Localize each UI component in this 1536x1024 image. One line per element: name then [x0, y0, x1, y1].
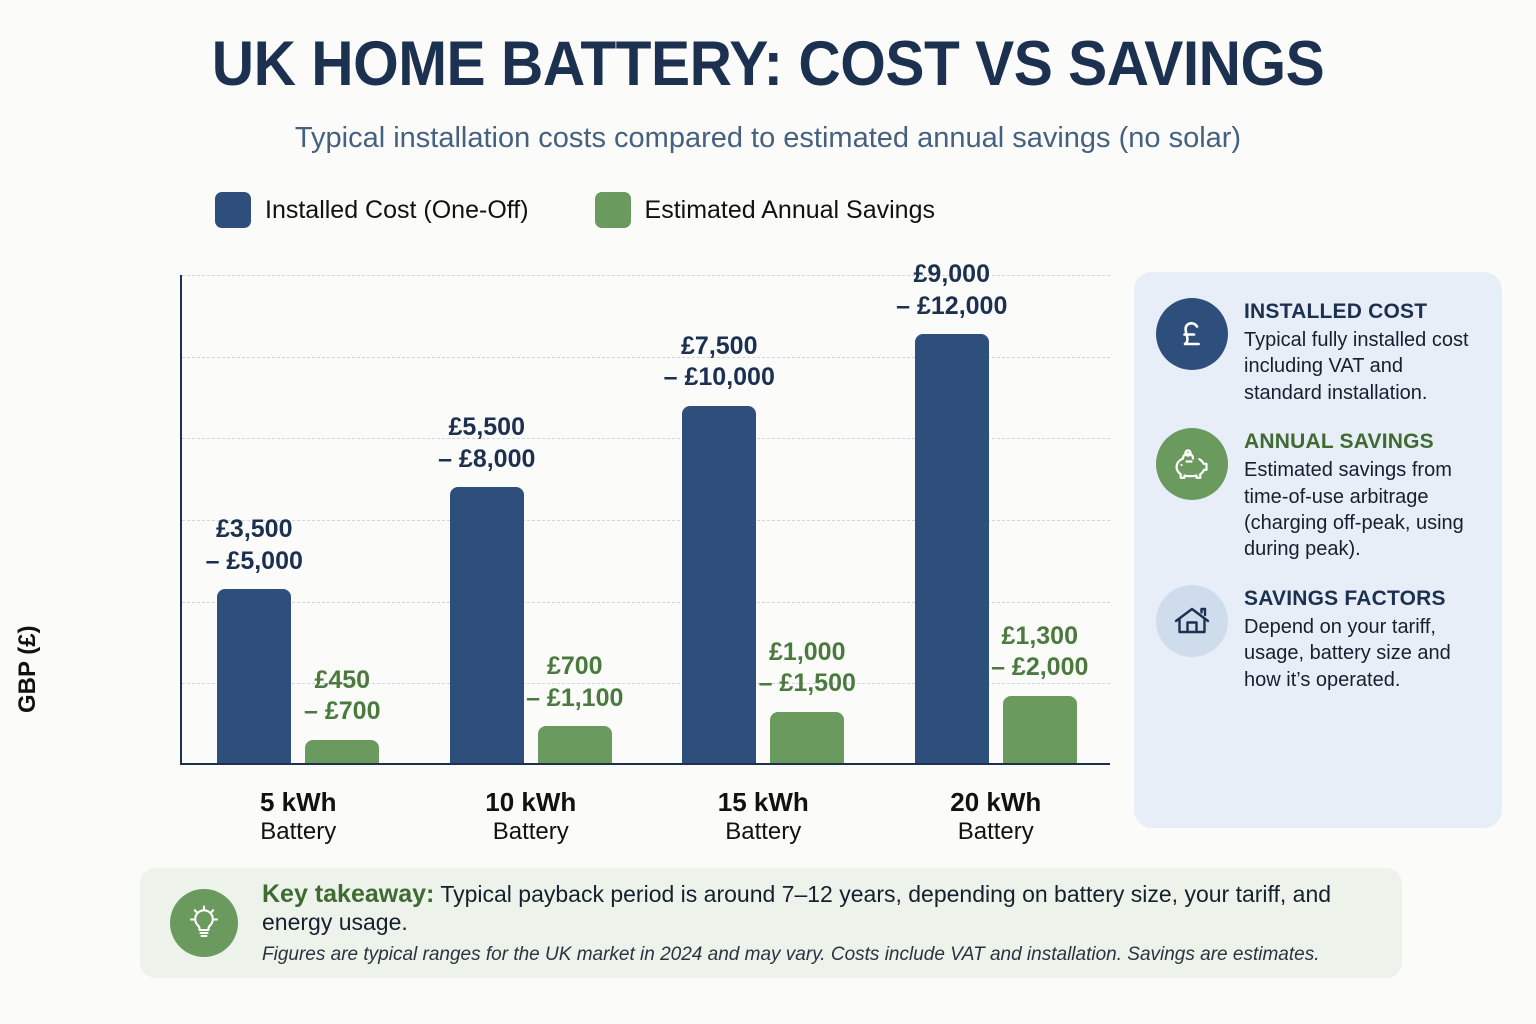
bar-value-min: £5,500 — [397, 412, 577, 444]
y-axis-title: GBP (£) — [14, 625, 42, 713]
bar-installed-cost[interactable] — [682, 406, 756, 763]
bar-installed-cost[interactable] — [450, 487, 524, 763]
x-axis-category-label: 5 kWhBattery — [182, 787, 415, 847]
legend-item-installed-cost: Installed Cost (One-Off) — [215, 192, 529, 228]
category-size: 10 kWh — [415, 787, 648, 818]
lightbulb-icon — [170, 889, 238, 957]
category-unit: Battery — [415, 818, 648, 847]
legend-swatch-savings-icon — [595, 192, 631, 228]
bar-value-max: – £2,000 — [950, 652, 1130, 684]
category-size: 5 kWh — [182, 787, 415, 818]
category-unit: Battery — [647, 818, 880, 847]
bar-value-min: £3,500 — [164, 514, 344, 546]
bar-value-min: £7,500 — [629, 331, 809, 363]
bar-value-min: £9,000 — [862, 259, 1042, 291]
key-takeaway-banner: Key takeaway: Typical payback period is … — [140, 868, 1402, 978]
info-sidebar: INSTALLED COST Typical fully installed c… — [1134, 272, 1502, 828]
bar-value-max: – £700 — [252, 696, 432, 728]
sidebar-card-body: SAVINGS FACTORS Depend on your tariff, u… — [1244, 585, 1480, 693]
bar-label-installed-cost: £3,500– £5,000 — [164, 514, 344, 577]
bar-value-min: £1,300 — [950, 621, 1130, 653]
bar-value-min: £1,000 — [717, 637, 897, 669]
sidebar-card-text: Depend on your tariff, usage, battery si… — [1244, 614, 1480, 693]
bar-value-max: – £10,000 — [629, 362, 809, 394]
bar-label-installed-cost: £7,500– £10,000 — [629, 331, 809, 394]
takeaway-main-line: Key takeaway: Typical payback period is … — [262, 880, 1372, 936]
bar-value-max: – £1,100 — [485, 683, 665, 715]
category-unit: Battery — [182, 818, 415, 847]
bar-label-installed-cost: £5,500– £8,000 — [397, 412, 577, 475]
x-axis-category-label: 10 kWhBattery — [415, 787, 648, 847]
sidebar-card-title: ANNUAL SAVINGS — [1244, 430, 1480, 454]
category-size: 15 kWh — [647, 787, 880, 818]
sidebar-card-annual-savings: ANNUAL SAVINGS Estimated savings from ti… — [1156, 428, 1480, 563]
sidebar-card-body: INSTALLED COST Typical fully installed c… — [1244, 298, 1480, 406]
bar-label-annual-savings: £450– £700 — [252, 665, 432, 728]
bar-label-annual-savings: £1,300– £2,000 — [950, 621, 1130, 684]
takeaway-label: Key takeaway: — [262, 880, 434, 908]
bar-value-min: £450 — [252, 665, 432, 697]
infographic-page: UK HOME BATTERY: COST VS SAVINGS Typical… — [0, 0, 1536, 1024]
bar-value-max: – £8,000 — [397, 444, 577, 476]
bar-annual-savings[interactable] — [305, 740, 379, 763]
bar-annual-savings[interactable] — [538, 726, 612, 763]
sidebar-card-title: SAVINGS FACTORS — [1244, 587, 1480, 611]
sidebar-card-text: Typical fully installed cost including V… — [1244, 327, 1480, 406]
bar-label-installed-cost: £9,000– £12,000 — [862, 259, 1042, 322]
legend-swatch-cost-icon — [215, 192, 251, 228]
x-axis-category-label: 15 kWhBattery — [647, 787, 880, 847]
bar-label-annual-savings: £1,000– £1,500 — [717, 637, 897, 700]
bar-value-min: £700 — [485, 651, 665, 683]
bar-annual-savings[interactable] — [1003, 696, 1077, 763]
takeaway-text-block: Key takeaway: Typical payback period is … — [262, 880, 1372, 966]
chart-legend: Installed Cost (One-Off) Estimated Annua… — [0, 192, 1150, 228]
legend-label-installed-cost: Installed Cost (One-Off) — [265, 196, 529, 225]
sidebar-card-title: INSTALLED COST — [1244, 300, 1480, 324]
page-title: UK HOME BATTERY: COST VS SAVINGS — [54, 28, 1482, 100]
plot-area: £0£2,000£4,000£6,000£8,000£10,000£12,000… — [180, 275, 1110, 765]
pound-sterling-icon — [1156, 298, 1228, 370]
category-unit: Battery — [880, 818, 1113, 847]
legend-item-annual-savings: Estimated Annual Savings — [595, 192, 935, 228]
sidebar-card-body: ANNUAL SAVINGS Estimated savings from ti… — [1244, 428, 1480, 563]
sidebar-card-installed-cost: INSTALLED COST Typical fully installed c… — [1156, 298, 1480, 406]
bar-value-max: – £12,000 — [862, 291, 1042, 323]
x-axis-category-label: 20 kWhBattery — [880, 787, 1113, 847]
bar-chart: GBP (£) £0£2,000£4,000£6,000£8,000£10,00… — [0, 258, 1120, 848]
takeaway-footnote: Figures are typical ranges for the UK ma… — [262, 944, 1372, 966]
sidebar-card-text: Estimated savings from time-of-use arbit… — [1244, 457, 1480, 563]
sidebar-card-savings-factors: SAVINGS FACTORS Depend on your tariff, u… — [1156, 585, 1480, 693]
legend-label-annual-savings: Estimated Annual Savings — [645, 196, 935, 225]
category-size: 20 kWh — [880, 787, 1113, 818]
bar-installed-cost[interactable] — [915, 334, 989, 763]
bar-value-max: – £1,500 — [717, 668, 897, 700]
bar-label-annual-savings: £700– £1,100 — [485, 651, 665, 714]
house-icon — [1156, 585, 1228, 657]
piggy-bank-icon — [1156, 428, 1228, 500]
bar-value-max: – £5,000 — [164, 546, 344, 578]
page-subtitle: Typical installation costs compared to e… — [0, 122, 1536, 155]
bar-annual-savings[interactable] — [770, 712, 844, 763]
